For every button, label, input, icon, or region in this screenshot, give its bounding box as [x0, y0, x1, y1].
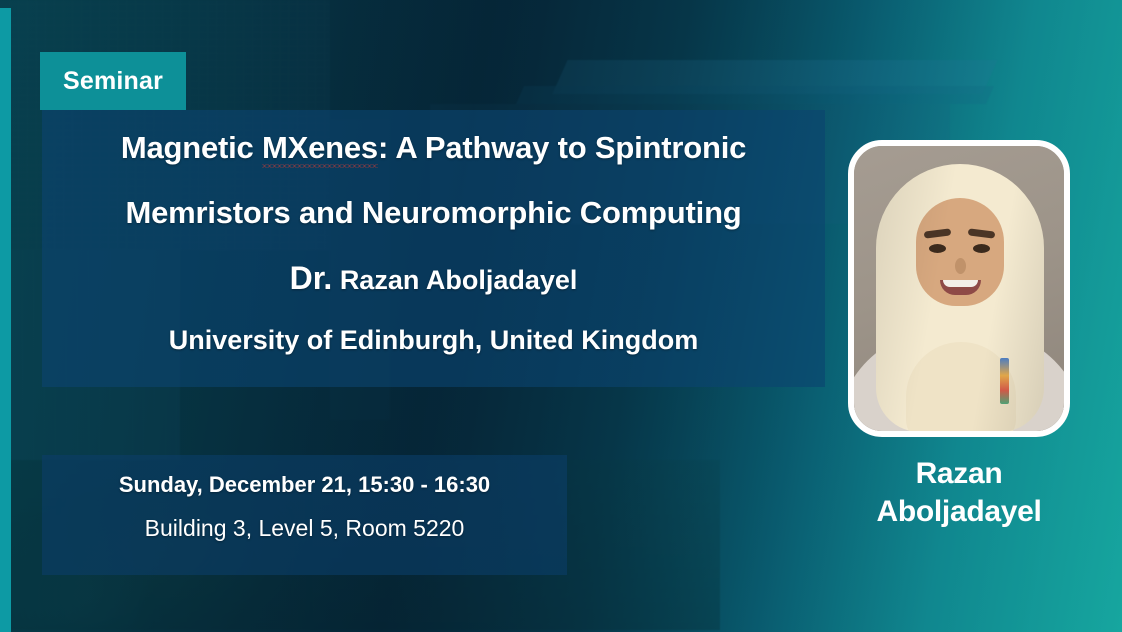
main-text-panel: Magnetic MXenes: A Pathway to Spintronic… [42, 110, 825, 387]
schedule-datetime: Sunday, December 21, 15:30 - 16:30 [42, 472, 567, 498]
speaker-byline: Razan Aboljadayel [848, 455, 1070, 532]
speaker-byline-last-name: Aboljadayel [848, 493, 1070, 531]
schedule-venue: Building 3, Level 5, Room 5220 [42, 515, 567, 542]
speaker-name-line: Dr. Razan Aboljadayel [42, 260, 825, 297]
schedule-panel: Sunday, December 21, 15:30 - 16:30 Build… [42, 455, 567, 575]
seminar-badge-label: Seminar [63, 67, 163, 96]
seminar-poster: Seminar Magnetic MXenes: A Pathway to Sp… [0, 0, 1122, 632]
seminar-title-segment-after: : A Pathway to Spintronic [378, 130, 746, 165]
seminar-title-segment-before: Magnetic [121, 130, 262, 165]
left-accent-strip [0, 8, 11, 632]
speaker-honorific: Dr. [290, 260, 333, 296]
seminar-title-line-2: Memristors and Neuromorphic Computing [42, 195, 825, 231]
portrait-lanyard-badge [1000, 358, 1009, 404]
seminar-title-misspelled-word: MXenes [262, 130, 378, 171]
speaker-portrait-frame [848, 140, 1070, 437]
seminar-title-line-1: Magnetic MXenes: A Pathway to Spintronic [42, 130, 825, 166]
speaker-portrait-photo [854, 146, 1064, 431]
speaker-name: Razan Aboljadayel [340, 265, 578, 295]
portrait-hijab-shading [876, 164, 1044, 432]
speaker-affiliation: University of Edinburgh, United Kingdom [42, 325, 825, 356]
speaker-byline-first-name: Razan [848, 455, 1070, 493]
seminar-badge: Seminar [40, 52, 186, 110]
